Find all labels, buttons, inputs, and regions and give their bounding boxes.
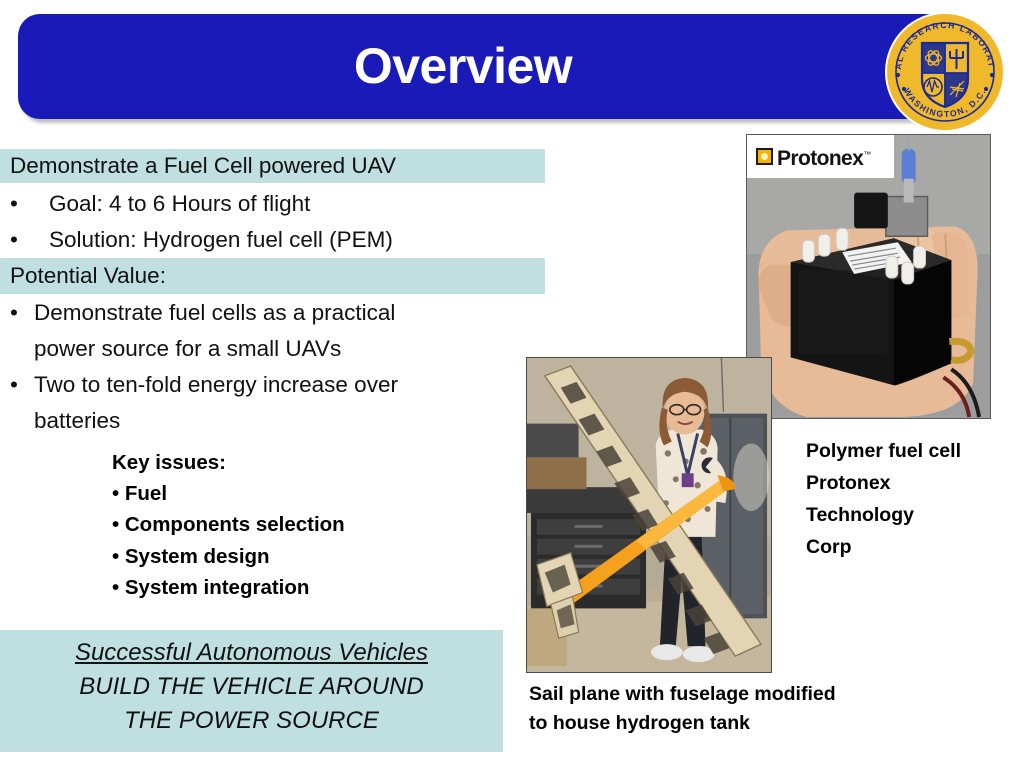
page-title: Overview xyxy=(18,14,908,119)
bullet-glyph: • xyxy=(10,301,18,324)
bullet-solution-pem: Solution: Hydrogen fuel cell (PEM) xyxy=(49,228,393,251)
fuel-cell-caption-line-2: Protonex xyxy=(806,473,891,494)
key-issue-system-integration: • System integration xyxy=(112,577,309,598)
polymer-fuel-cell-photo: Protonex™ xyxy=(746,134,991,419)
bullet-practical-power-line1: Demonstrate fuel cells as a practical xyxy=(34,301,395,324)
naval-research-laboratory-seal-icon: NAVAL RESEARCH LABORATORY WASHINGTON, D.… xyxy=(884,11,1006,133)
emphasis-line-2: BUILD THE VEHICLE AROUND xyxy=(0,674,503,699)
key-issue-system-design: • System design xyxy=(112,546,270,567)
emphasis-line-3: THE POWER SOURCE xyxy=(0,708,503,733)
key-issues-heading: Key issues: xyxy=(112,452,226,473)
slide-title-banner: Overview xyxy=(18,14,971,119)
heading-demonstrate-uav: Demonstrate a Fuel Cell powered UAV xyxy=(10,154,396,177)
protonex-mark-icon xyxy=(756,148,773,165)
bullet-goal-hours: Goal: 4 to 6 Hours of flight xyxy=(49,192,310,215)
bullet-glyph: • xyxy=(10,192,18,215)
key-issue-fuel: • Fuel xyxy=(112,483,167,504)
sail-plane-photo xyxy=(526,357,772,673)
key-issue-components-selection: • Components selection xyxy=(112,514,345,535)
protonex-wordmark: Protonex™ xyxy=(777,144,871,169)
trademark-symbol: ™ xyxy=(863,150,870,159)
bullet-glyph: • xyxy=(10,373,18,396)
fuel-cell-caption-line-3: Technology xyxy=(806,505,914,526)
bullet-energy-increase-line1: Two to ten-fold energy increase over xyxy=(34,373,398,396)
protonex-logo: Protonex™ xyxy=(747,135,894,178)
bullet-energy-increase-line2: batteries xyxy=(34,409,120,432)
emphasis-highlight-band: Successful Autonomous Vehicles BUILD THE… xyxy=(0,630,503,752)
sail-plane-caption-line-2: to house hydrogen tank xyxy=(529,713,750,734)
fuel-cell-caption-line-1: Polymer fuel cell xyxy=(806,441,961,462)
bullet-glyph: • xyxy=(10,228,18,251)
emphasis-line-1: Successful Autonomous Vehicles xyxy=(0,640,503,665)
protonex-label: Protonex xyxy=(777,147,863,170)
fuel-cell-caption-line-4: Corp xyxy=(806,537,852,558)
sail-plane-caption-line-1: Sail plane with fuselage modified xyxy=(529,684,836,705)
bullet-practical-power-line2: power source for a small UAVs xyxy=(34,337,341,360)
heading-potential-value: Potential Value: xyxy=(10,264,166,287)
